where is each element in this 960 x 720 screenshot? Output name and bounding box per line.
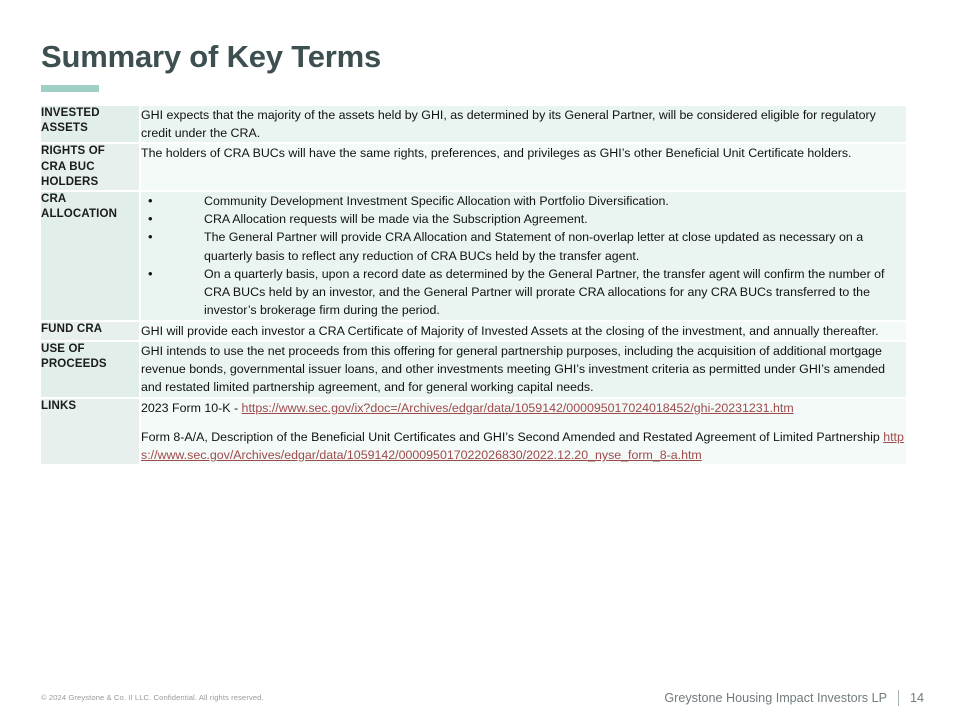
list-item: Community Development Investment Specifi… bbox=[141, 192, 906, 210]
table-row: LINKS2023 Form 10-K - https://www.sec.go… bbox=[41, 398, 906, 466]
row-label-cell: CRAALLOCATION bbox=[41, 191, 140, 321]
row-label-cell: USE OFPROCEEDS bbox=[41, 341, 140, 398]
table-row: CRAALLOCATIONCommunity Development Inves… bbox=[41, 191, 906, 321]
key-terms-table: INVESTEDASSETSGHI expects that the major… bbox=[41, 106, 906, 466]
row-content-cell: 2023 Form 10-K - https://www.sec.gov/ix?… bbox=[140, 398, 906, 466]
footer-entity-name: Greystone Housing Impact Investors LP bbox=[664, 691, 887, 705]
slide: Summary of Key Terms INVESTEDASSETSGHI e… bbox=[0, 0, 960, 720]
title-accent-bar bbox=[41, 85, 99, 92]
table-row: RIGHTS OFCRA BUCHOLDERSThe holders of CR… bbox=[41, 143, 906, 191]
row-content-cell: GHI intends to use the net proceeds from… bbox=[140, 341, 906, 398]
row-content-cell: Community Development Investment Specifi… bbox=[140, 191, 906, 321]
row-content-text: The holders of CRA BUCs will have the sa… bbox=[141, 144, 906, 162]
table-row: USE OFPROCEEDSGHI intends to use the net… bbox=[41, 341, 906, 398]
footer-brand: Greystone Housing Impact Investors LP 14 bbox=[664, 690, 924, 706]
row-content-cell: GHI expects that the majority of the ass… bbox=[140, 106, 906, 143]
table-row: FUND CRAGHI will provide each investor a… bbox=[41, 321, 906, 341]
row-label-cell: RIGHTS OFCRA BUCHOLDERS bbox=[41, 143, 140, 191]
page-title: Summary of Key Terms bbox=[41, 40, 381, 74]
row-label: CRAALLOCATION bbox=[41, 192, 139, 222]
row-content-cell: The holders of CRA BUCs will have the sa… bbox=[140, 143, 906, 191]
list-item: CRA Allocation requests will be made via… bbox=[141, 210, 906, 228]
link-paragraph: Form 8-A/A, Description of the Beneficia… bbox=[141, 428, 906, 464]
row-label-cell: FUND CRA bbox=[41, 321, 140, 341]
title-block: Summary of Key Terms bbox=[41, 40, 381, 92]
row-label-cell: INVESTEDASSETS bbox=[41, 106, 140, 143]
list-item: The General Partner will provide CRA All… bbox=[141, 228, 906, 264]
row-label-cell: LINKS bbox=[41, 398, 140, 466]
bullet-list: Community Development Investment Specifi… bbox=[141, 192, 906, 320]
row-label: LINKS bbox=[41, 399, 139, 414]
row-label: FUND CRA bbox=[41, 322, 139, 337]
paragraph-spacer bbox=[141, 417, 906, 428]
row-content-cell: GHI will provide each investor a CRA Cer… bbox=[140, 321, 906, 341]
row-content-text: GHI expects that the majority of the ass… bbox=[141, 106, 906, 142]
footer-divider bbox=[898, 690, 899, 706]
row-label: USE OFPROCEEDS bbox=[41, 342, 139, 372]
external-link[interactable]: https://www.sec.gov/ix?doc=/Archives/edg… bbox=[242, 401, 794, 415]
row-label: INVESTEDASSETS bbox=[41, 106, 139, 136]
footer-copyright: © 2024 Greystone & Co. II LLC. Confident… bbox=[41, 693, 264, 702]
table-row: INVESTEDASSETSGHI expects that the major… bbox=[41, 106, 906, 143]
link-paragraph: 2023 Form 10-K - https://www.sec.gov/ix?… bbox=[141, 399, 906, 417]
page-number: 14 bbox=[910, 691, 924, 705]
list-item: On a quarterly basis, upon a record date… bbox=[141, 265, 906, 320]
row-content-text: GHI intends to use the net proceeds from… bbox=[141, 342, 906, 397]
external-link[interactable]: https://www.sec.gov/Archives/edgar/data/… bbox=[141, 430, 904, 462]
row-label: RIGHTS OFCRA BUCHOLDERS bbox=[41, 144, 139, 190]
row-content-text: GHI will provide each investor a CRA Cer… bbox=[141, 322, 906, 340]
